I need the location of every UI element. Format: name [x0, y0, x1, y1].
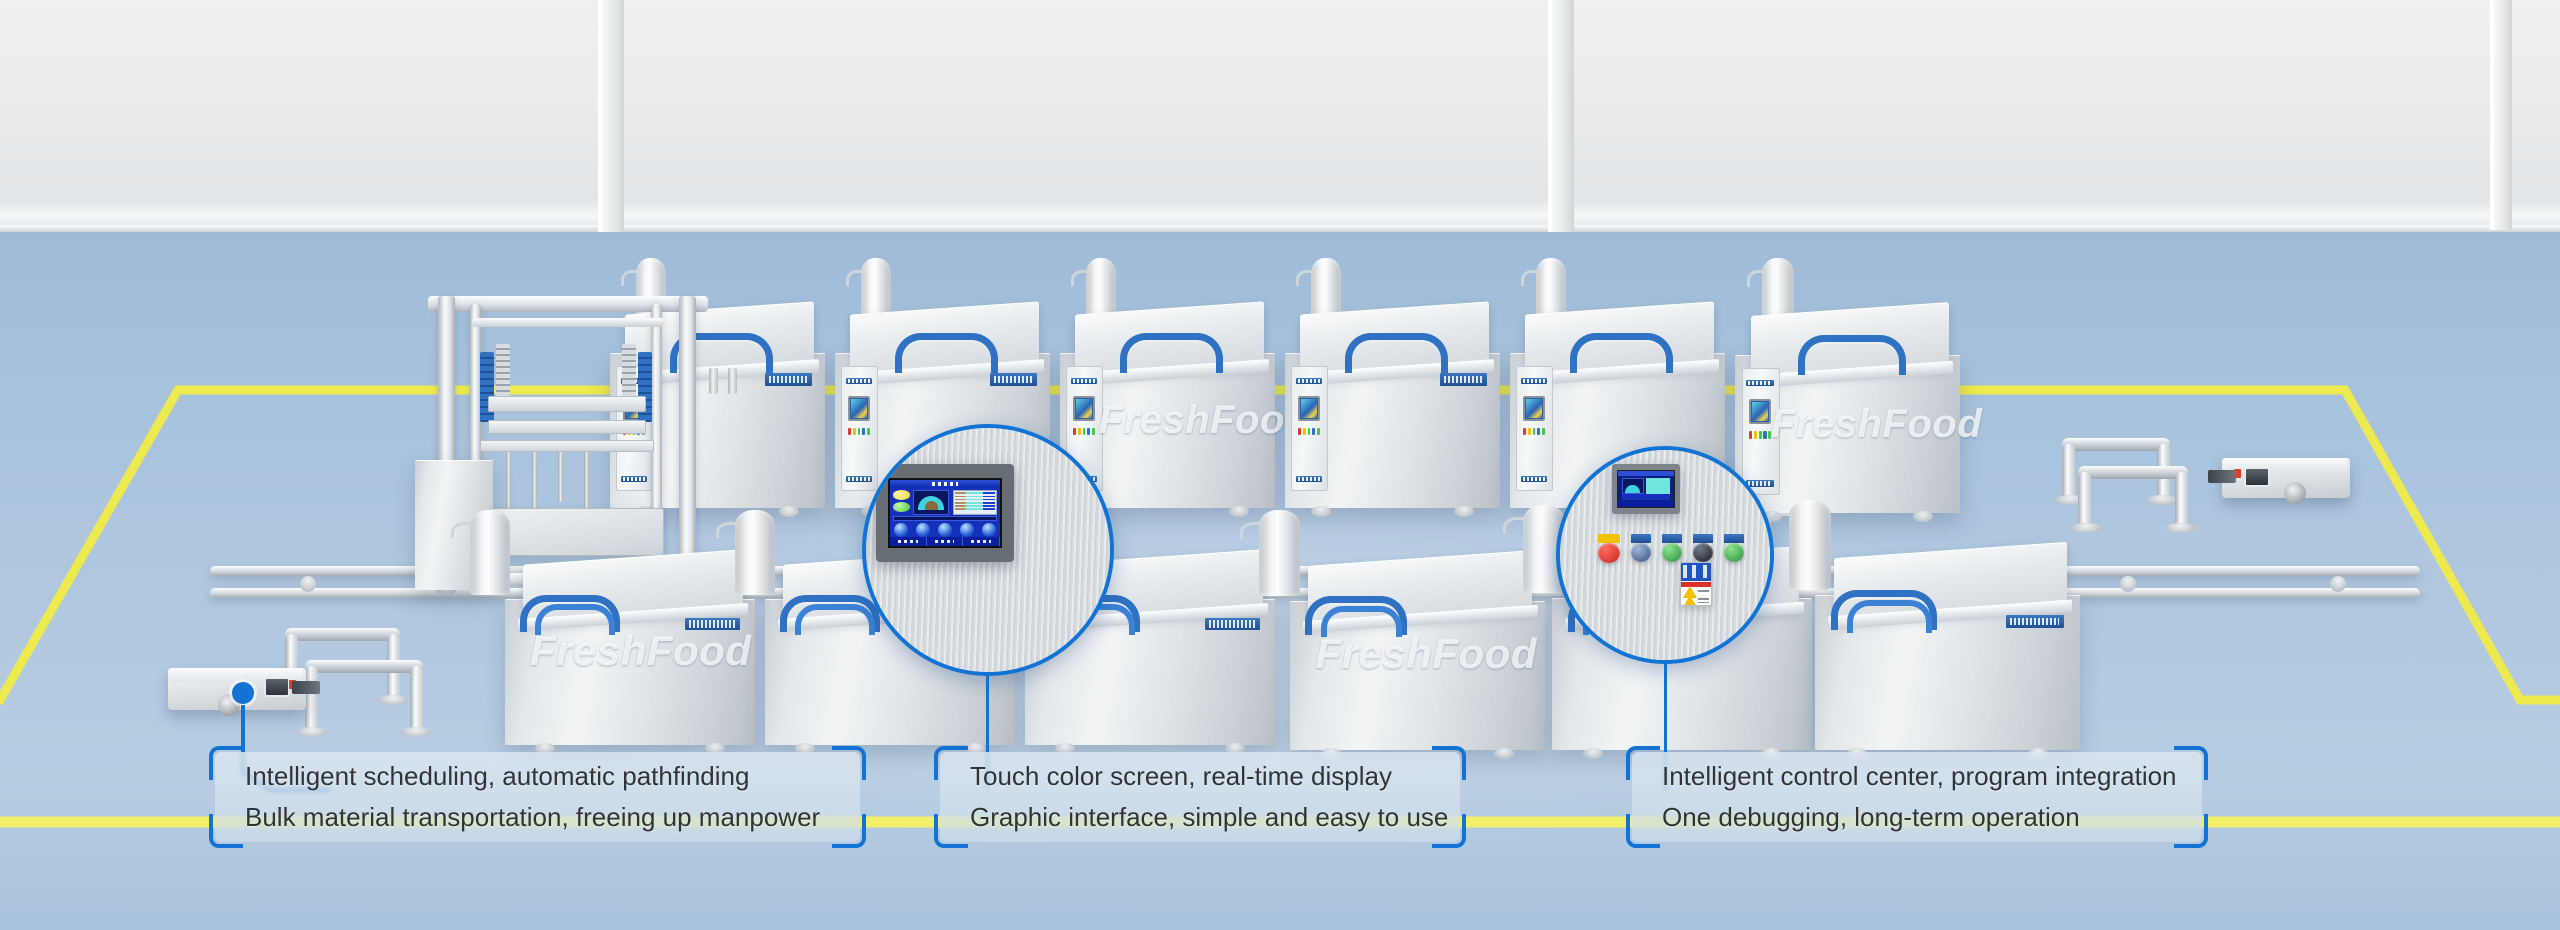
corner-bracket-icon: [934, 746, 968, 780]
agv-fork: [2208, 470, 2236, 483]
hmi-round-button[interactable]: [938, 523, 952, 537]
gantry-carriage: [488, 396, 646, 412]
panel-hmi-screen[interactable]: [848, 396, 869, 421]
machine-column: [735, 510, 775, 595]
hmi-round-button[interactable]: [982, 523, 996, 537]
corner-bracket-icon: [2174, 746, 2208, 780]
machine-valve: [709, 368, 718, 394]
gantry-gripper-frame: [480, 440, 654, 452]
panel-brand-plate: [1296, 476, 1323, 482]
caption-line: One debugging, long-term operation: [1662, 802, 2177, 834]
blue-hose: [535, 604, 615, 635]
control-button-start[interactable]: [1662, 534, 1682, 562]
arch-leg: [2175, 472, 2188, 528]
arch-leg: [2078, 472, 2091, 528]
control-button-selector[interactable]: [1631, 534, 1651, 562]
sticker-warning-row: [1681, 597, 1711, 605]
agv-callout-dot[interactable]: [232, 682, 254, 704]
blue-hose: [1570, 333, 1673, 373]
corner-bracket-icon: [832, 814, 866, 848]
hmi-level-gauge: [913, 490, 949, 514]
gantry-rail: [472, 318, 664, 327]
machine-side-label: [765, 373, 812, 386]
corner-bracket-icon: [1626, 746, 1660, 780]
panel-hmi-screen[interactable]: [1523, 396, 1544, 421]
panel-hmi-screen[interactable]: [1073, 396, 1094, 421]
hmi-footer-cell[interactable]: [963, 537, 999, 546]
arch-bar: [305, 660, 423, 673]
blue-hose: [1798, 335, 1906, 376]
hmi-footer-bar[interactable]: [890, 537, 999, 546]
gantry-lift-rod: [506, 452, 511, 512]
hmi-round-button[interactable]: [916, 523, 930, 537]
hmi-status-strip: [893, 516, 998, 521]
blue-hose: [1120, 333, 1223, 373]
panel-nameplate: [1071, 378, 1098, 384]
control-button-mode[interactable]: [1693, 534, 1713, 562]
emergency-stop-button[interactable]: [1598, 534, 1620, 563]
machine-side-label: [1205, 618, 1260, 630]
rail-foot: [300, 576, 316, 592]
blue-hose: [1847, 600, 1932, 633]
rail-foot: [2120, 576, 2136, 592]
arch-base: [2071, 523, 2101, 533]
cooking-machine-front-4[interactable]: FreshFood: [1290, 510, 1545, 750]
arch-leg: [2062, 444, 2075, 500]
hmi-data-table: [953, 490, 998, 514]
caption-line: Graphic interface, simple and easy to us…: [970, 802, 1448, 834]
arch-base: [297, 727, 327, 737]
arch-bar: [2078, 466, 2188, 479]
machine-side-label: [685, 618, 740, 630]
machine-side-label: [1440, 373, 1487, 386]
agv-caption: Intelligent scheduling, automatic pathfi…: [215, 752, 860, 842]
hmi-touch-screen[interactable]: [888, 478, 1001, 549]
caption-line: Bulk material transportation, freeing up…: [245, 802, 820, 834]
corner-bracket-icon: [2174, 814, 2208, 848]
arch-base: [2165, 523, 2195, 533]
machine-column: [470, 510, 510, 595]
guard-arch-left: [305, 660, 423, 732]
gantry-carriage: [488, 420, 646, 434]
panel-nameplate: [1746, 380, 1774, 386]
caption-line: Intelligent control center, program inte…: [1662, 761, 2177, 793]
rail-foot: [2330, 576, 2346, 592]
panel-nameplate: [1521, 378, 1548, 384]
cabinet-hmi-screen[interactable]: [1617, 470, 1674, 508]
control-button-reset[interactable]: [1724, 534, 1744, 562]
agv-deck: [2225, 458, 2348, 472]
hmi-button-row[interactable]: [890, 522, 999, 537]
arch-leg: [305, 666, 318, 732]
machine-control-panel[interactable]: [1516, 366, 1553, 491]
hmi-caption: Touch color screen, real-time display Gr…: [940, 752, 1460, 842]
panel-indicator-lights: [1298, 428, 1319, 435]
agv-sensor-module: [264, 677, 290, 697]
hmi-main-area: [890, 488, 999, 522]
arch-base: [401, 727, 431, 737]
blue-hose: [895, 333, 998, 373]
agv-wheel: [2284, 482, 2306, 504]
panel-hmi-screen[interactable]: [1298, 396, 1319, 421]
panel-hmi-screen[interactable]: [1749, 399, 1771, 424]
panel-nameplate: [846, 378, 873, 384]
cabinet-hmi-bezel: [1612, 464, 1680, 514]
panel-indicator-lights: [1523, 428, 1544, 435]
blue-hose: [1345, 333, 1448, 373]
corner-bracket-icon: [832, 746, 866, 780]
agv-fork: [292, 681, 320, 694]
panel-brand-plate: [1521, 476, 1548, 482]
control-callout[interactable]: [1556, 446, 1774, 664]
hmi-bezel: [876, 464, 1014, 562]
cooking-machine-front-1[interactable]: FreshFood: [505, 510, 755, 745]
hmi-title-bar: [890, 480, 999, 489]
control-caption: Intelligent control center, program inte…: [1632, 752, 2202, 842]
safety-warning-sticker: [1680, 562, 1712, 606]
corner-bracket-icon: [209, 746, 243, 780]
caption-line: Touch color screen, real-time display: [970, 761, 1448, 793]
blue-hose: [1321, 606, 1403, 637]
cabinet-button-row[interactable]: [1598, 534, 1755, 563]
cooking-machine-front-6[interactable]: [1815, 500, 2080, 750]
guard-arch-right: [2078, 466, 2188, 528]
gantry-lift-rod: [558, 452, 563, 502]
corner-bracket-icon: [1626, 814, 1660, 848]
arch-bar: [285, 628, 400, 641]
caption-lines: Intelligent scheduling, automatic pathfi…: [245, 761, 820, 833]
agv-sensor-module: [2244, 467, 2270, 487]
arch-leg: [410, 666, 423, 732]
machine-column: [1259, 510, 1300, 596]
production-line-scene: FreshFood: [0, 0, 2560, 930]
hmi-round-button[interactable]: [894, 523, 908, 537]
panel-indicator-lights: [1749, 431, 1771, 439]
machine-control-panel[interactable]: [1291, 366, 1328, 491]
agv-right[interactable]: [2222, 458, 2350, 498]
hmi-footer-cell[interactable]: [927, 537, 963, 546]
hmi-round-button[interactable]: [960, 523, 974, 537]
hmi-footer-cell[interactable]: [890, 537, 926, 546]
corner-bracket-icon: [209, 814, 243, 848]
hmi-indicator-lights: [893, 490, 910, 512]
caption-lines: Intelligent control center, program inte…: [1662, 761, 2177, 833]
corner-bracket-icon: [934, 814, 968, 848]
sticker-pictograms: [1681, 563, 1711, 581]
panel-nameplate: [1296, 378, 1323, 384]
blue-hose: [795, 604, 875, 635]
arch-bar: [2062, 438, 2170, 451]
caption-line: Intelligent scheduling, automatic pathfi…: [245, 761, 820, 793]
machine-side-label: [990, 373, 1037, 386]
gantry-lift-rod: [584, 452, 589, 514]
machine-column: [1789, 500, 1831, 590]
cooking-machine-back-4[interactable]: [1285, 258, 1500, 508]
machine-side-label: [2006, 615, 2064, 628]
machine-valve: [728, 368, 737, 394]
hmi-callout[interactable]: [862, 424, 1114, 676]
caption-lines: Touch color screen, real-time display Gr…: [970, 761, 1448, 833]
